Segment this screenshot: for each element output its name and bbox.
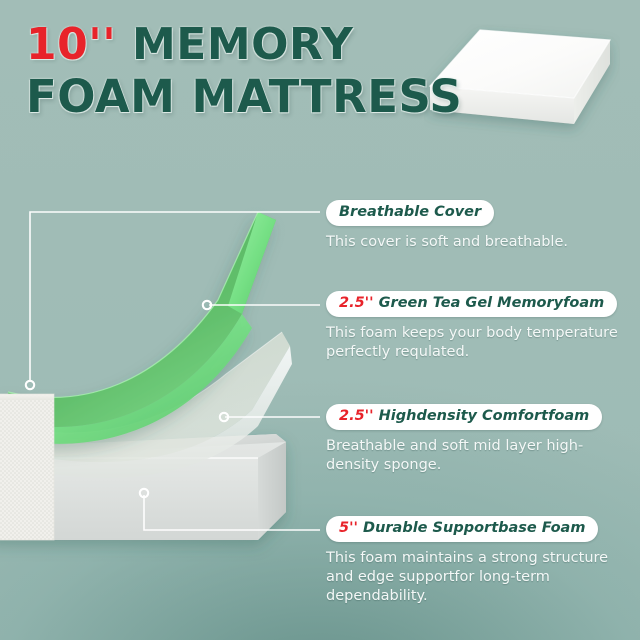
callout-breathable-cover: Breathable Cover This cover is soft and … (326, 200, 568, 252)
callout-title-pill[interactable]: 2.5'' Green Tea Gel Memoryfoam (326, 291, 617, 317)
callout-title-pill[interactable]: Breathable Cover (326, 200, 494, 226)
callout-title: Green Tea Gel Memoryfoam (379, 295, 605, 311)
callout-measure: 2.5'' (339, 295, 374, 311)
callout-durable-supportbase-foam: 5'' Durable Supportbase Foam This foam m… (326, 516, 622, 606)
layer-cutaway-illustration (0, 196, 340, 568)
callout-description: Breathable and soft mid layer high-densi… (326, 437, 622, 475)
infographic-poster: 10'' MEMORY FOAM MATTRESS (0, 0, 640, 640)
callout-title: Breathable Cover (339, 204, 481, 220)
callout-highdensity-comfortfoam: 2.5'' Highdensity Comfortfoam Breathable… (326, 404, 622, 475)
callout-description: This cover is soft and breathable. (326, 233, 568, 252)
callout-measure: 5'' (339, 520, 358, 536)
title-line-2: FOAM MATTRESS (26, 74, 456, 120)
callout-title: Highdensity Comfortfoam (379, 408, 590, 424)
page-title: 10'' MEMORY FOAM MATTRESS (26, 22, 456, 120)
callout-measure: 2.5'' (339, 408, 374, 424)
title-size-value: 10'' (26, 19, 116, 70)
callout-description: This foam maintains a strong structure a… (326, 549, 622, 606)
callout-title-pill[interactable]: 2.5'' Highdensity Comfortfoam (326, 404, 602, 430)
callout-title: Durable Supportbase Foam (363, 520, 585, 536)
title-line-1-text: MEMORY (116, 19, 353, 70)
callout-description: This foam keeps your body temperature pe… (326, 324, 622, 362)
callout-title-pill[interactable]: 5'' Durable Supportbase Foam (326, 516, 598, 542)
title-line-1: 10'' MEMORY (26, 22, 456, 68)
mattress-cutaway-diagram (0, 196, 340, 568)
callout-green-tea-gel-memoryfoam: 2.5'' Green Tea Gel Memoryfoam This foam… (326, 291, 622, 362)
cover-layer-shape (0, 394, 54, 540)
